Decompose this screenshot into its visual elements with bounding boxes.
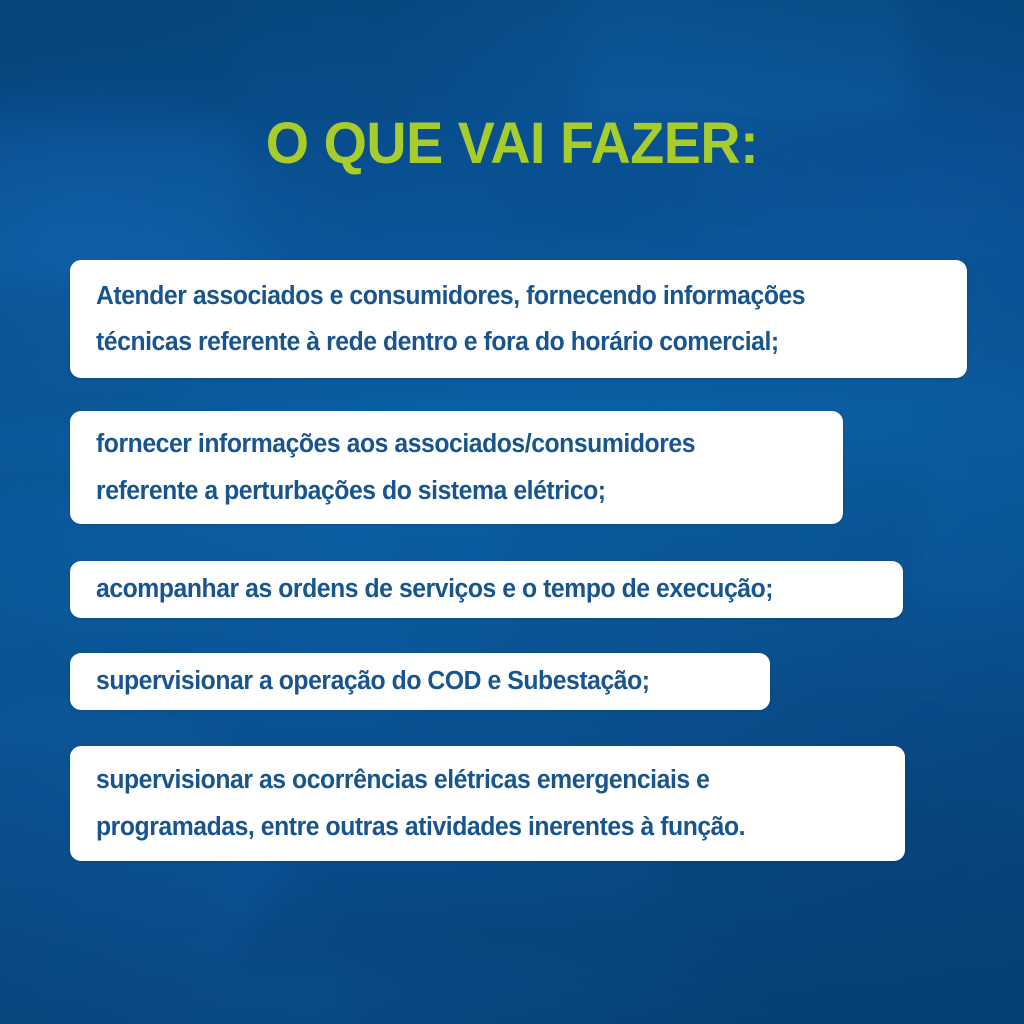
card-line: técnicas referente à rede dentro e fora … [96, 319, 916, 365]
card-line: Atender associados e consumidores, forne… [96, 273, 916, 319]
card-line: programadas, entre outras atividades ine… [96, 804, 856, 850]
list-item: acompanhar as ordens de serviços e o tem… [70, 561, 903, 618]
poster-content: O QUE VAI FAZER: Atender associados e co… [0, 0, 1024, 1024]
card-line: acompanhar as ordens de serviços e o tem… [96, 574, 854, 605]
card-line: supervisionar as ocorrências elétricas e… [96, 757, 856, 803]
list-item: fornecer informações aos associados/cons… [70, 411, 843, 524]
card-line: fornecer informações aos associados/cons… [96, 421, 795, 467]
page-title: O QUE VAI FAZER: [20, 114, 1003, 175]
list-item: supervisionar as ocorrências elétricas e… [70, 746, 905, 861]
card-line: supervisionar a operação do COD e Subest… [96, 666, 725, 697]
list-item: Atender associados e consumidores, forne… [70, 260, 967, 378]
list-item: supervisionar a operação do COD e Subest… [70, 653, 770, 710]
card-line: referente a perturbações do sistema elét… [96, 468, 795, 514]
poster-canvas: O QUE VAI FAZER: Atender associados e co… [0, 0, 1024, 1024]
